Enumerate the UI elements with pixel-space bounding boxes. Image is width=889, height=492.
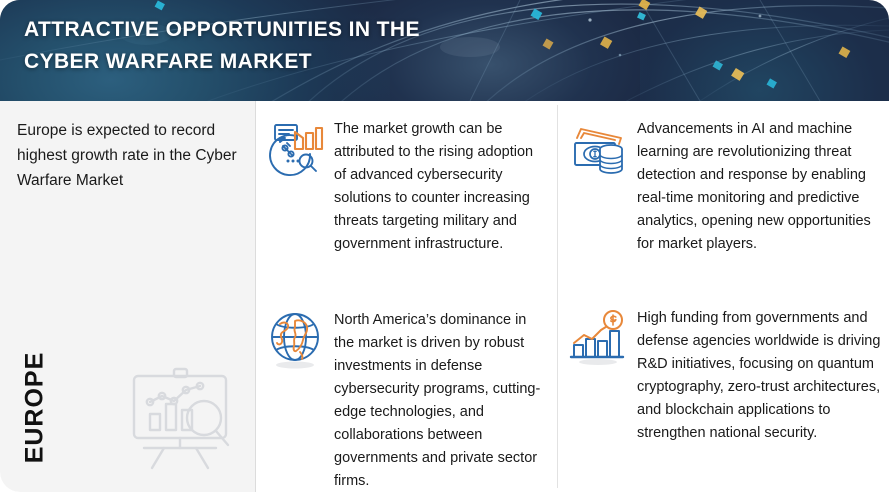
- insight-card-4-text: High funding from governments and defens…: [637, 305, 883, 445]
- infographic-page: ATTRACTIVE OPPORTUNITIES IN THE CYBER WA…: [0, 0, 889, 492]
- money-cash-coins-icon: [565, 116, 631, 182]
- insight-card-2-text: Advancements in AI and machine learning …: [637, 116, 883, 256]
- content-area: Europe is expected to record highest gro…: [0, 101, 889, 492]
- header-banner: ATTRACTIVE OPPORTUNITIES IN THE CYBER WA…: [0, 0, 889, 101]
- column-divider-vertical: [557, 105, 558, 488]
- insight-card-1-text: The market growth can be attributed to t…: [334, 116, 549, 256]
- pie-chart-analytics-icon: [262, 116, 328, 182]
- page-title: ATTRACTIVE OPPORTUNITIES IN THE CYBER WA…: [24, 14, 544, 78]
- globe-world-icon: [262, 307, 328, 373]
- presentation-chart-search-icon: [120, 356, 240, 476]
- left-panel: Europe is expected to record highest gro…: [0, 101, 255, 492]
- insight-card-3-text: North America’s dominance in the market …: [334, 307, 550, 492]
- left-panel-lead-text: Europe is expected to record highest gro…: [17, 118, 242, 193]
- insight-card-1: The market growth can be attributed to t…: [262, 116, 550, 256]
- growth-bar-chart-dollar-icon: [565, 305, 631, 371]
- insight-card-2: Advancements in AI and machine learning …: [565, 116, 883, 256]
- insight-card-3: North America’s dominance in the market …: [262, 307, 550, 492]
- region-label-europe: EUROPE: [21, 338, 50, 478]
- insight-card-4: High funding from governments and defens…: [565, 305, 883, 445]
- page-title-line1: ATTRACTIVE OPPORTUNITIES IN THE: [24, 18, 420, 41]
- panel-divider-vertical: [255, 101, 256, 492]
- page-title-line2: CYBER WARFARE MARKET: [24, 46, 544, 78]
